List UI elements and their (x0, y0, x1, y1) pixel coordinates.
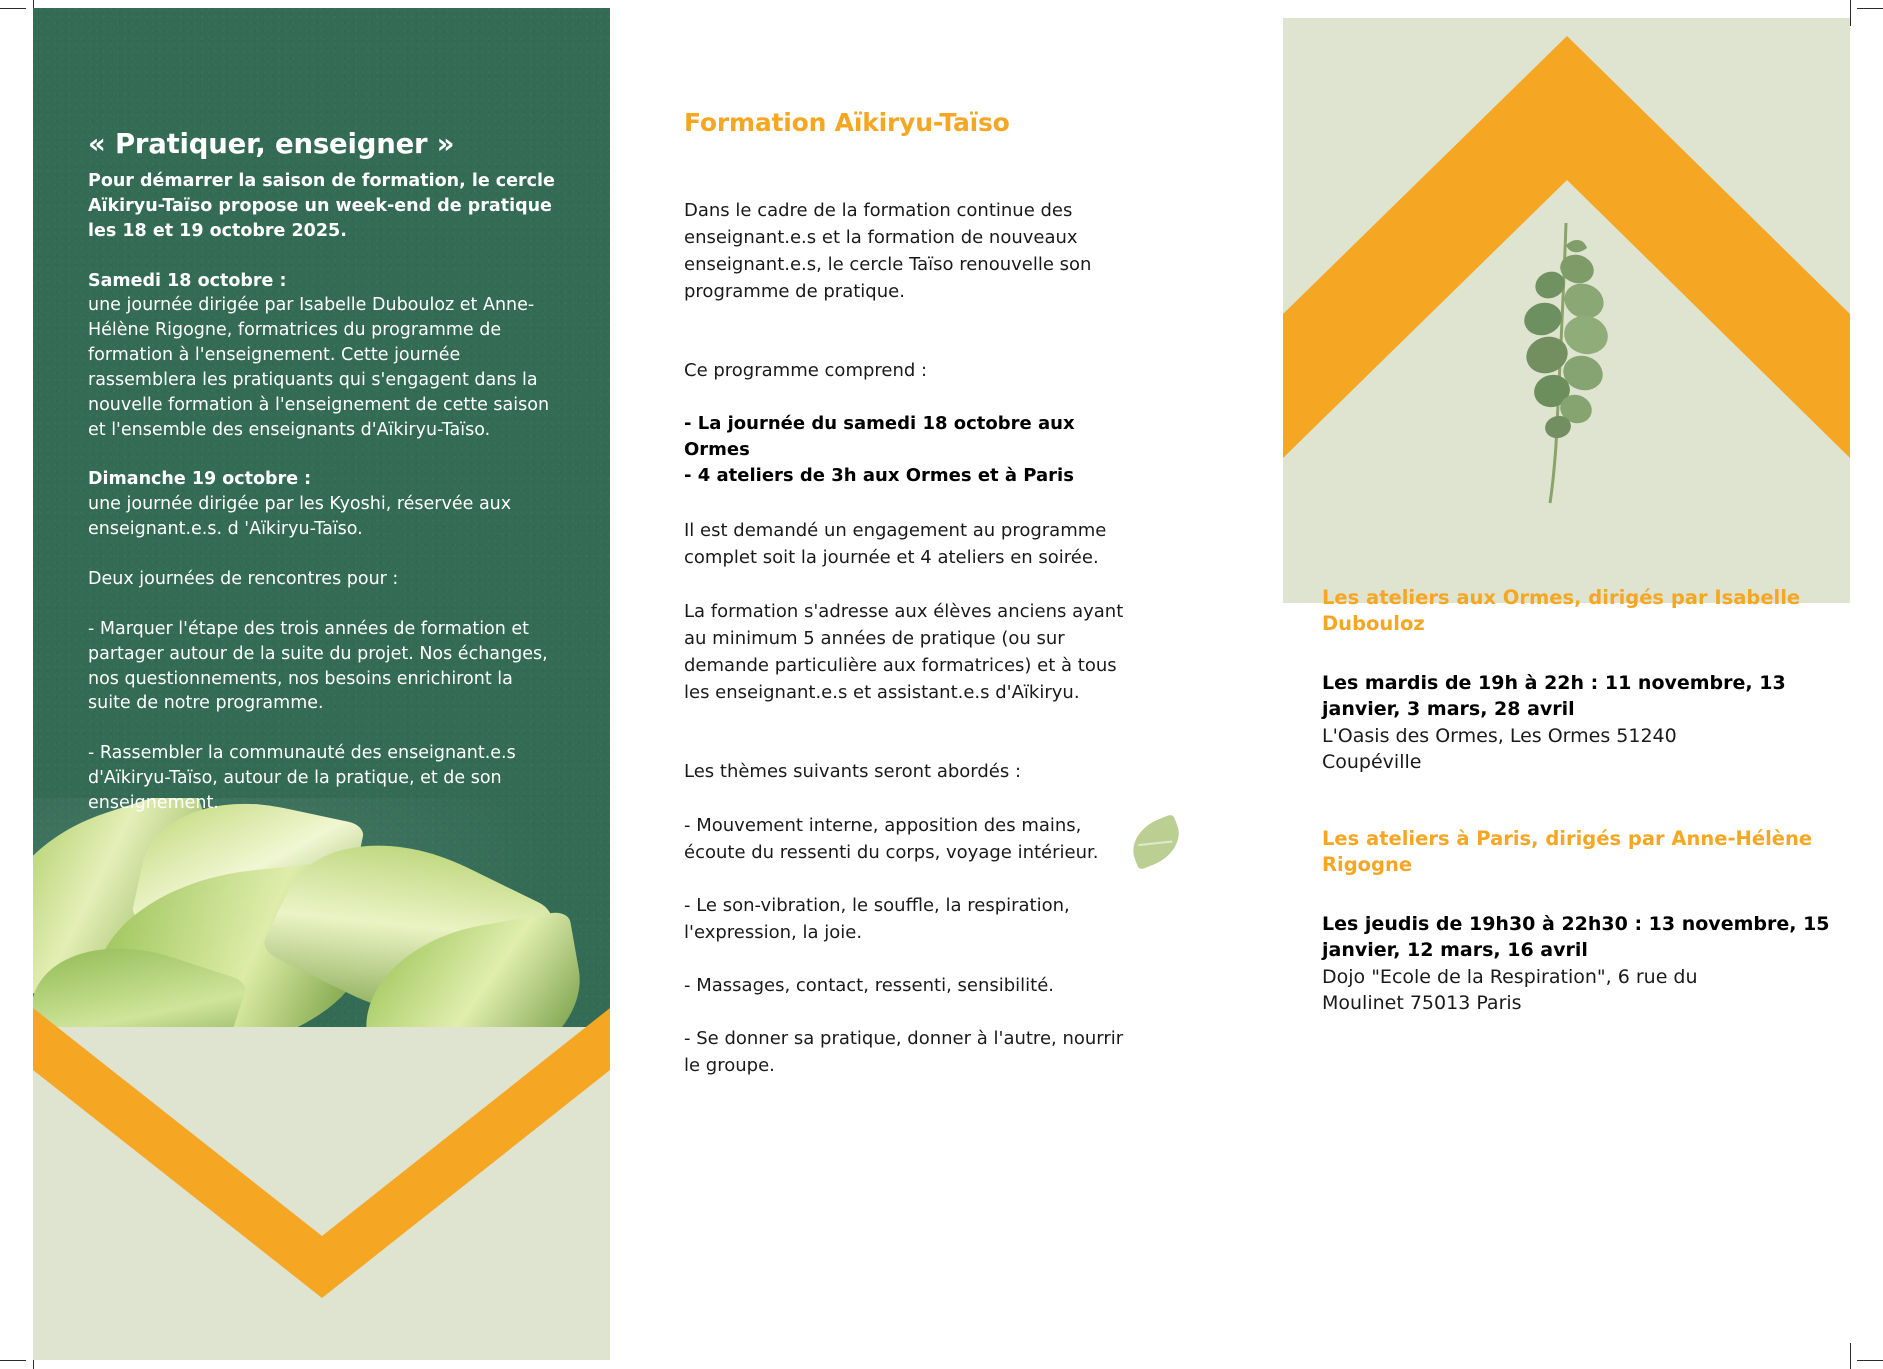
crop-mark-right-top (1857, 8, 1883, 9)
paris-address-line-1: Dojo "Ecole de la Respiration", 6 rue du (1322, 964, 1832, 991)
ormes-address-line-1: L'Oasis des Ormes, Les Ormes 51240 (1322, 723, 1832, 750)
plant-photo (33, 798, 610, 1027)
saturday-body: une journée dirigée par Isabelle Duboulo… (88, 293, 558, 442)
left-panel: « Pratiquer, enseigner » Pour démarrer l… (33, 8, 610, 1360)
sunday-heading: Dimanche 19 octobre : (88, 467, 558, 492)
ormes-address-line-2: Coupéville (1322, 749, 1832, 776)
saturday-heading: Samedi 18 octobre : (88, 269, 558, 294)
programme-item-1: - La journée du samedi 18 octobre aux Or… (684, 411, 1144, 463)
paris-heading: Les ateliers à Paris, dirigés par Anne-H… (1322, 826, 1832, 879)
left-title: « Pratiquer, enseigner » (88, 128, 558, 160)
crop-mark-top-right (1850, 0, 1851, 26)
middle-column: Formation Aïkiryu-Taïso Dans le cadre de… (684, 108, 1144, 1079)
themes-intro: Les thèmes suivants seront abordés : (684, 758, 1144, 785)
left-column-text: « Pratiquer, enseigner » Pour démarrer l… (88, 128, 558, 816)
crop-mark-left-bottom (0, 1360, 26, 1361)
left-bullet-2: - Rassembler la communauté des enseignan… (88, 741, 558, 816)
middle-paragraph-1: Dans le cadre de la formation continue d… (684, 197, 1144, 305)
right-column-text: Les ateliers aux Ormes, dirigés par Isab… (1322, 585, 1832, 1017)
paris-dates: Les jeudis de 19h30 à 22h30 : 13 novembr… (1322, 911, 1832, 964)
eucalyptus-illustration (1480, 215, 1650, 505)
theme-item-1: - Mouvement interne, apposition des main… (684, 812, 1144, 866)
audience-paragraph: La formation s'adresse aux élèves ancien… (684, 598, 1144, 706)
paris-address-line-2: Moulinet 75013 Paris (1322, 990, 1832, 1017)
ormes-heading: Les ateliers aux Ormes, dirigés par Isab… (1322, 585, 1832, 638)
ormes-dates: Les mardis de 19h à 22h : 11 novembre, 1… (1322, 670, 1832, 723)
engagement-paragraph: Il est demandé un engagement au programm… (684, 517, 1144, 571)
programme-intro: Ce programme comprend : (684, 357, 1144, 384)
theme-item-3: - Massages, contact, ressenti, sensibili… (684, 972, 1144, 999)
sunday-body: une journée dirigée par les Kyoshi, rése… (88, 492, 558, 542)
two-days-intro: Deux journées de rencontres pour : (88, 567, 558, 592)
crop-mark-bottom-right (1850, 1343, 1851, 1369)
theme-item-4: - Se donner sa pratique, donner à l'autr… (684, 1025, 1144, 1079)
left-intro: Pour démarrer la saison de formation, le… (88, 169, 558, 244)
left-bullet-1: - Marquer l'étape des trois années de fo… (88, 617, 558, 716)
programme-item-2: - 4 ateliers de 3h aux Ormes et à Paris (684, 463, 1144, 489)
crop-mark-right-bottom (1857, 1360, 1883, 1361)
theme-item-2: - Le son-vibration, le souffle, la respi… (684, 892, 1144, 946)
middle-title: Formation Aïkiryu-Taïso (684, 108, 1144, 137)
orange-chevron-bottom (33, 1008, 610, 1298)
crop-mark-left-top (0, 8, 26, 9)
